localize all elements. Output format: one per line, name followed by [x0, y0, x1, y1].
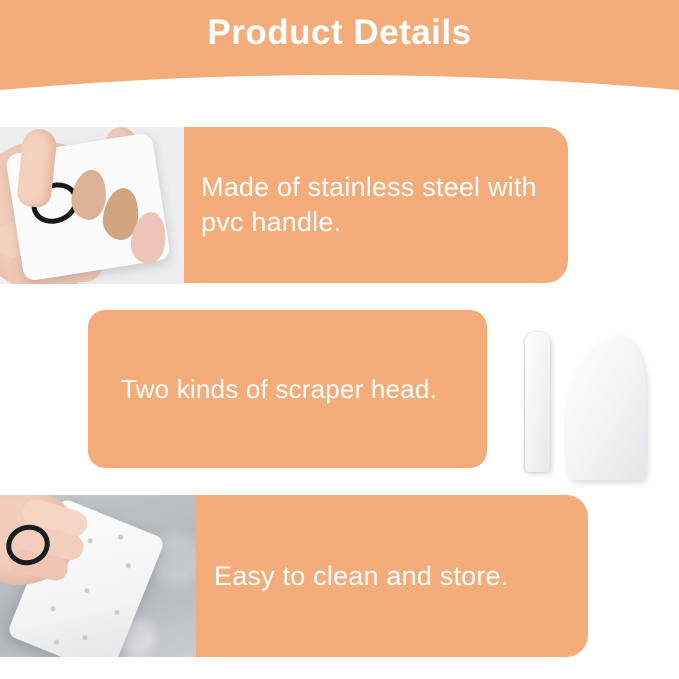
- image-hand-rinsing-palette: [0, 495, 196, 657]
- feature-row-scraper-heads: Two kinds of scraper head.: [0, 310, 679, 468]
- caption-text-easy-clean: Easy to clean and store.: [214, 559, 508, 594]
- page-title: Product Details: [0, 12, 679, 54]
- scraper-head-curved: [566, 336, 646, 480]
- caption-panel-easy-clean: Easy to clean and store.: [196, 495, 588, 657]
- image-two-scraper-heads: [500, 310, 679, 485]
- image-hand-holding-palette: [0, 127, 184, 284]
- caption-text-material: Made of stainless steel with pvc handle.: [201, 170, 554, 240]
- scraper-head-flat: [525, 332, 550, 472]
- header-banner: Product Details: [0, 0, 679, 92]
- caption-panel-material: Made of stainless steel with pvc handle.: [184, 127, 568, 283]
- caption-panel-scraper-heads: Two kinds of scraper head.: [88, 310, 487, 468]
- feature-row-easy-clean: Easy to clean and store.: [0, 495, 679, 657]
- feature-row-material: Made of stainless steel with pvc handle.: [0, 127, 679, 284]
- caption-text-scraper-heads: Two kinds of scraper head.: [121, 372, 437, 407]
